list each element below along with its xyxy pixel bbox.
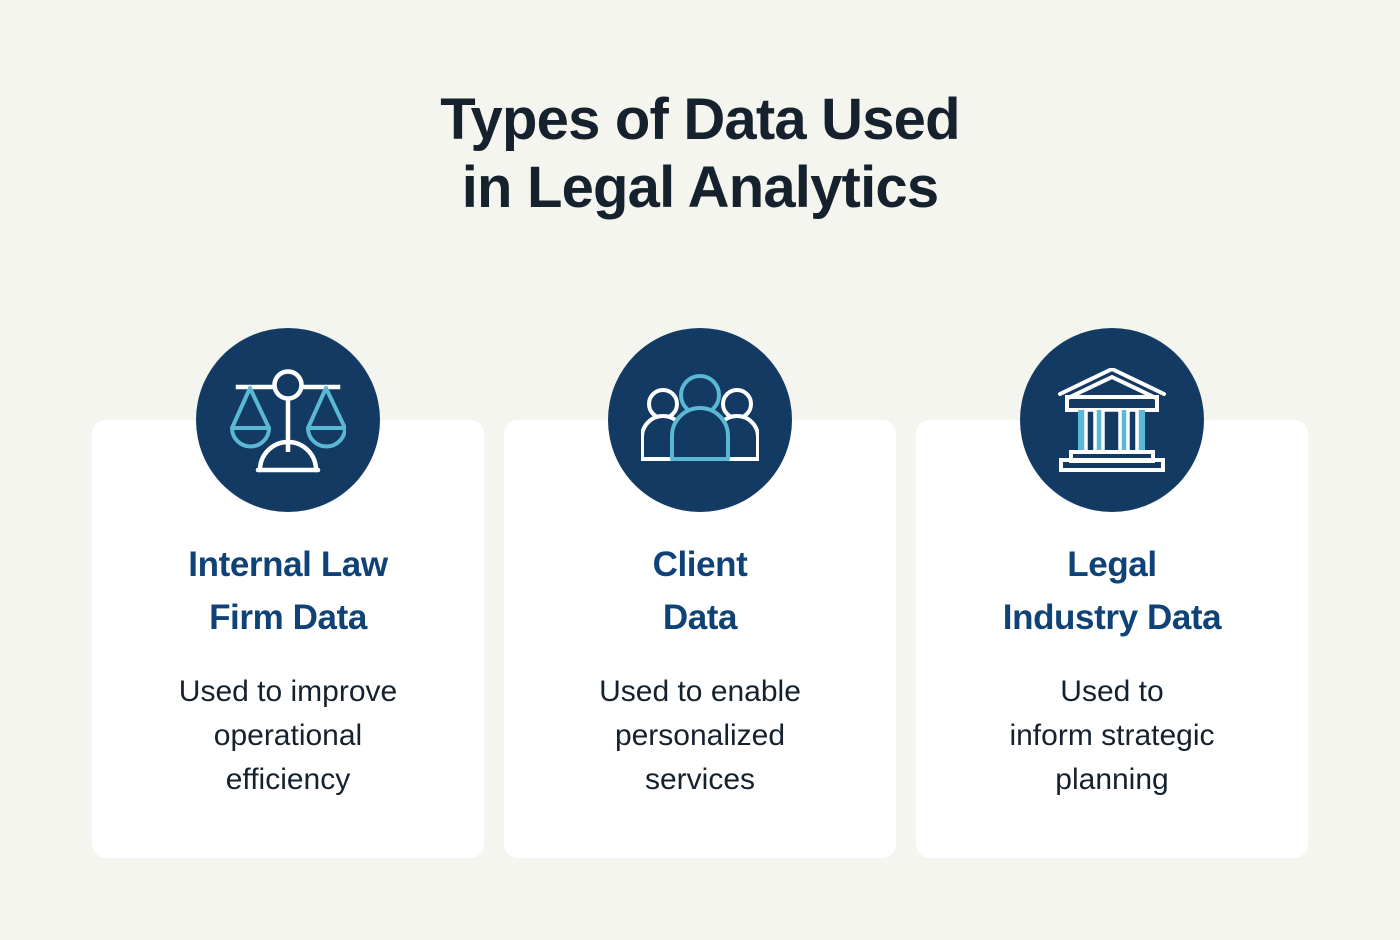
- card-heading: Internal Law Firm Data: [114, 539, 462, 644]
- page-title: Types of Data Used in Legal Analytics: [0, 86, 1400, 222]
- icon-badge-internal-law-firm-data: [196, 328, 380, 512]
- card-legal-industry-data: Legal Industry Data Used to inform strat…: [916, 420, 1308, 858]
- icon-badge-legal-industry-data: [1020, 328, 1204, 512]
- card-heading: Client Data: [526, 539, 874, 644]
- card-body-internal-law-firm-data: Internal Law Firm Data Used to improve o…: [92, 539, 484, 802]
- card-description: Used to enable personalized services: [526, 670, 874, 802]
- infographic-root: Types of Data Used in Legal Analytics: [0, 0, 1400, 940]
- page-title-line-1: Types of Data Used: [0, 86, 1400, 154]
- card-description: Used to inform strategic planning: [938, 670, 1286, 802]
- card-body-legal-industry-data: Legal Industry Data Used to inform strat…: [916, 539, 1308, 802]
- card-description: Used to improve operational efficiency: [114, 670, 462, 802]
- card-body-client-data: Client Data Used to enable personalized …: [504, 539, 896, 802]
- page-title-line-2: in Legal Analytics: [0, 154, 1400, 222]
- card-row: Internal Law Firm Data Used to improve o…: [92, 420, 1308, 858]
- card-heading: Legal Industry Data: [938, 539, 1286, 644]
- card-client-data: Client Data Used to enable personalized …: [504, 420, 896, 858]
- courthouse-icon: [1058, 368, 1166, 472]
- scales-of-justice-icon: [230, 366, 346, 474]
- card-internal-law-firm-data: Internal Law Firm Data Used to improve o…: [92, 420, 484, 858]
- three-people-icon: [641, 374, 759, 466]
- icon-badge-client-data: [608, 328, 792, 512]
